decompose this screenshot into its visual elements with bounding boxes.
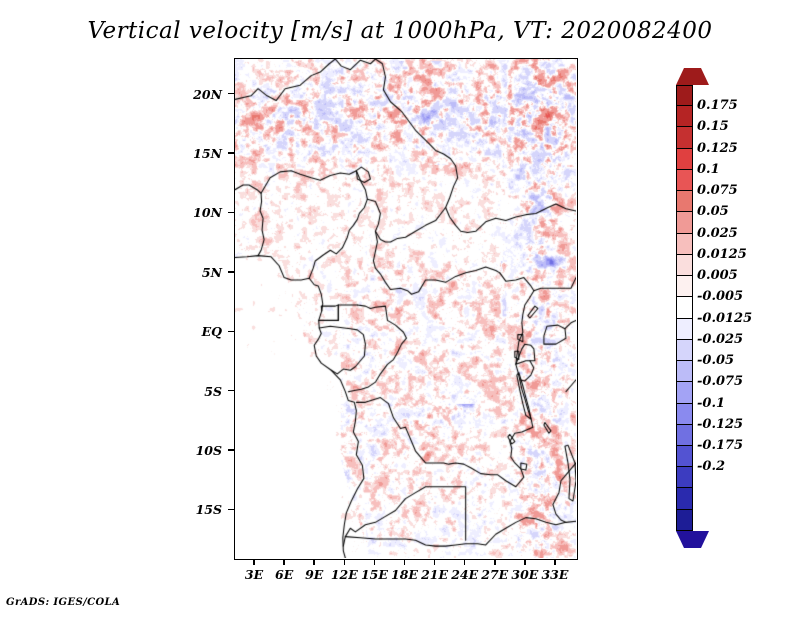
y-tick	[228, 212, 234, 214]
colorbar-cell	[676, 467, 693, 488]
page-title: Vertical velocity [m/s] at 1000hPa, VT: …	[0, 18, 800, 44]
x-axis-label: 24E	[448, 567, 482, 582]
y-axis-label: 15N	[178, 146, 222, 161]
colorbar-tick-label: -0.075	[697, 375, 743, 388]
x-axis-label: 30E	[508, 567, 542, 582]
colorbar-tick-label: 0.05	[697, 205, 729, 218]
colorbar-tick-label: -0.005	[697, 290, 743, 303]
x-axis-label: 18E	[388, 567, 422, 582]
grads-plot-page: Vertical velocity [m/s] at 1000hPa, VT: …	[0, 0, 800, 618]
colorbar-tick-label: -0.175	[697, 439, 743, 452]
y-tick	[228, 152, 234, 154]
x-tick	[554, 559, 556, 565]
colorbar-cell	[676, 510, 693, 531]
colorbar-bottom-arrow	[676, 531, 709, 548]
colorbar-cell	[676, 149, 693, 170]
colorbar-tick-label: 0.1	[697, 163, 720, 176]
x-axis-label: 6E	[267, 567, 301, 582]
colorbar-tick-label: 0.175	[697, 99, 738, 112]
y-tick	[228, 509, 234, 511]
colorbar-tick-label: 0.005	[697, 269, 738, 282]
y-tick	[228, 93, 234, 95]
map-plot-area	[234, 58, 578, 560]
colorbar-cell	[676, 234, 693, 255]
y-axis-label: EQ	[178, 324, 222, 339]
colorbar-cell	[676, 404, 693, 425]
y-axis-label: 10N	[178, 205, 222, 220]
x-tick	[374, 559, 376, 565]
x-axis-label: 27E	[478, 567, 512, 582]
y-tick	[228, 449, 234, 451]
x-tick	[313, 559, 315, 565]
colorbar-cell	[676, 425, 693, 446]
colorbar-cell	[676, 170, 693, 191]
colorbar-tick-label: 0.0125	[697, 248, 747, 261]
x-axis-label: 15E	[357, 567, 391, 582]
y-axis-label: 5N	[178, 265, 222, 280]
y-axis-label: 15S	[178, 502, 222, 517]
colorbar-cell	[676, 340, 693, 361]
colorbar-tick-label: -0.0125	[697, 312, 752, 325]
x-tick	[434, 559, 436, 565]
colorbar-cell	[676, 85, 693, 106]
colorbar-tick-label: -0.1	[697, 397, 725, 410]
x-tick	[524, 559, 526, 565]
colorbar-cell	[676, 488, 693, 509]
x-axis-label: 12E	[327, 567, 361, 582]
colorbar-cell	[676, 191, 693, 212]
coastline-overlay	[235, 59, 576, 558]
x-tick	[344, 559, 346, 565]
x-tick	[464, 559, 466, 565]
colorbar-tick-label: -0.125	[697, 418, 743, 431]
grads-attribution: GrADS: IGES/COLA	[6, 597, 120, 608]
x-axis-label: 3E	[237, 567, 271, 582]
y-tick	[228, 331, 234, 333]
x-tick	[283, 559, 285, 565]
colorbar-cell	[676, 276, 693, 297]
x-tick	[404, 559, 406, 565]
colorbar-cell	[676, 106, 693, 127]
x-axis-label: 33E	[538, 567, 572, 582]
colorbar-tick-label: 0.075	[697, 184, 738, 197]
colorbar[interactable]	[676, 85, 693, 531]
colorbar-cell	[676, 361, 693, 382]
y-axis-label: 5S	[178, 384, 222, 399]
colorbar-tick-label: 0.025	[697, 227, 738, 240]
x-axis-label: 21E	[418, 567, 452, 582]
colorbar-top-arrow	[676, 68, 709, 85]
y-tick	[228, 390, 234, 392]
colorbar-cell	[676, 446, 693, 467]
x-tick	[494, 559, 496, 565]
x-axis-label: 9E	[297, 567, 331, 582]
y-axis-label: 10S	[178, 443, 222, 458]
colorbar-tick-label: 0.125	[697, 142, 738, 155]
y-axis-label: 20N	[178, 87, 222, 102]
colorbar-cell	[676, 382, 693, 403]
colorbar-cell	[676, 255, 693, 276]
x-tick	[253, 559, 255, 565]
colorbar-tick-label: -0.025	[697, 333, 743, 346]
y-tick	[228, 271, 234, 273]
colorbar-cell	[676, 297, 693, 318]
colorbar-cell	[676, 127, 693, 148]
colorbar-cell	[676, 212, 693, 233]
colorbar-cell	[676, 319, 693, 340]
colorbar-tick-label: -0.2	[697, 460, 725, 473]
colorbar-tick-label: -0.05	[697, 354, 734, 367]
colorbar-tick-label: 0.15	[697, 120, 729, 133]
